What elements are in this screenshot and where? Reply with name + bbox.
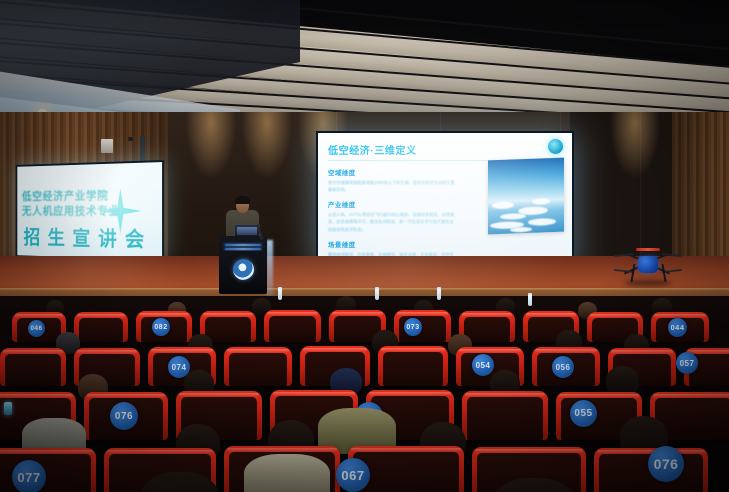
seat-number-badge: 076 [648, 446, 684, 482]
seat-number-badge: 057 [676, 352, 698, 374]
seat[interactable] [394, 310, 451, 342]
water-bottle [375, 287, 379, 300]
ceiling [0, 0, 729, 126]
seat-number-badge: 056 [552, 356, 574, 378]
podium[interactable] [219, 236, 267, 294]
presentation-slide: 低空经济·三维定义 空域维度 低空空域通常指距离地面1000米以下的空域，是低空… [318, 133, 572, 273]
multirotor-drone [616, 242, 680, 284]
seat-number-badge: 073 [404, 318, 422, 336]
security-camera-icon [128, 137, 133, 141]
university-emblem-icon [548, 139, 563, 154]
audience-shoulders [244, 454, 330, 492]
seat-number-badge: 054 [472, 354, 494, 376]
seat-number-badge: 046 [28, 320, 45, 337]
ceiling-shading [0, 0, 729, 126]
seat[interactable] [264, 310, 321, 342]
seat[interactable] [0, 348, 66, 386]
side-display-screen[interactable]: 低空经济产业学院 无人机应用技术专业 招生宣讲会 [16, 160, 164, 262]
water-bottle [528, 293, 532, 306]
water-bottle [437, 287, 441, 300]
main-projection-screen[interactable]: 低空经济·三维定义 空域维度 低空空域通常指距离地面1000米以下的空域，是低空… [316, 131, 574, 275]
slide-title: 低空经济·三维定义 [328, 142, 562, 157]
seat-number-badge: 076 [110, 402, 138, 430]
smartphone-screen[interactable] [4, 402, 12, 415]
laptop-screen [237, 227, 257, 235]
slide-aerial-photo [488, 158, 564, 235]
seat[interactable] [224, 347, 292, 386]
seat-number-badge: 055 [570, 400, 597, 427]
seat-number-badge: 077 [12, 460, 46, 492]
audience-seating: 082 046 073 044 074 056 054 057 [0, 296, 729, 492]
compass-star-icon [100, 188, 141, 233]
auditorium-scene: 低空经济产业学院 无人机应用技术专业 招生宣讲会 低空经济·三维定义 空域维度 … [0, 0, 729, 492]
slide-section-body: 低空空域通常指距离地面1000米以下的空域，是低空经济活动的主要载体空间。 [328, 179, 456, 193]
slide-section-body: 以无人机、eVTOL等低空飞行器为核心载体，涵盖研发制造、运营服务、综合保障等环… [328, 211, 456, 232]
seat-number-badge: 082 [152, 318, 170, 336]
seat[interactable] [462, 391, 548, 440]
drone-top-bar [636, 248, 660, 251]
slide-section-heading: 场景维度 [328, 239, 562, 249]
water-bottle [278, 287, 282, 300]
drone-body [638, 256, 658, 273]
seat[interactable] [74, 312, 128, 342]
seat-number-badge: 044 [668, 318, 687, 337]
presenter-hair [235, 196, 250, 204]
podium-light-column [266, 240, 273, 296]
podium-nameplate [223, 242, 263, 251]
seat[interactable] [378, 346, 448, 386]
seat-number-badge: 067 [336, 458, 370, 492]
wall-speaker-icon [101, 139, 113, 153]
university-seal-icon [233, 259, 254, 280]
wall-wash-light [600, 112, 670, 222]
side-screen-line1: 低空经济产业学院 [22, 187, 109, 204]
